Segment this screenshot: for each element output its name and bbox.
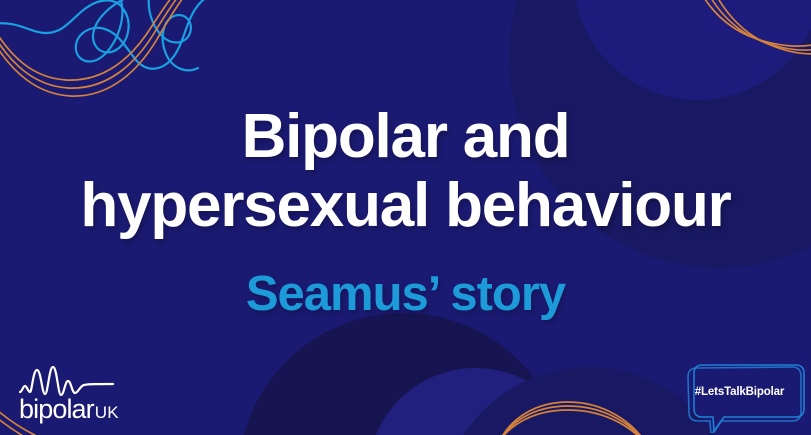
title-line-1: Bipolar and	[80, 103, 730, 172]
page-title: Bipolar and hypersexual behaviour	[66, 103, 744, 241]
hashtag-badge: #LetsTalkBipolar	[680, 361, 805, 433]
hashtag-label: #LetsTalkBipolar	[680, 386, 799, 398]
bipolar-uk-logo: bipolarUK	[19, 365, 137, 423]
logo-name-main: bipolar	[19, 394, 94, 424]
page-subtitle: Seamus’ story	[246, 266, 565, 322]
title-line-2: hypersexual behaviour	[80, 172, 730, 241]
logo-name-suffix: UK	[95, 403, 119, 422]
title-card: Bipolar and hypersexual behaviour Seamus…	[0, 0, 811, 435]
logo-wordmark: bipolarUK	[19, 396, 137, 423]
